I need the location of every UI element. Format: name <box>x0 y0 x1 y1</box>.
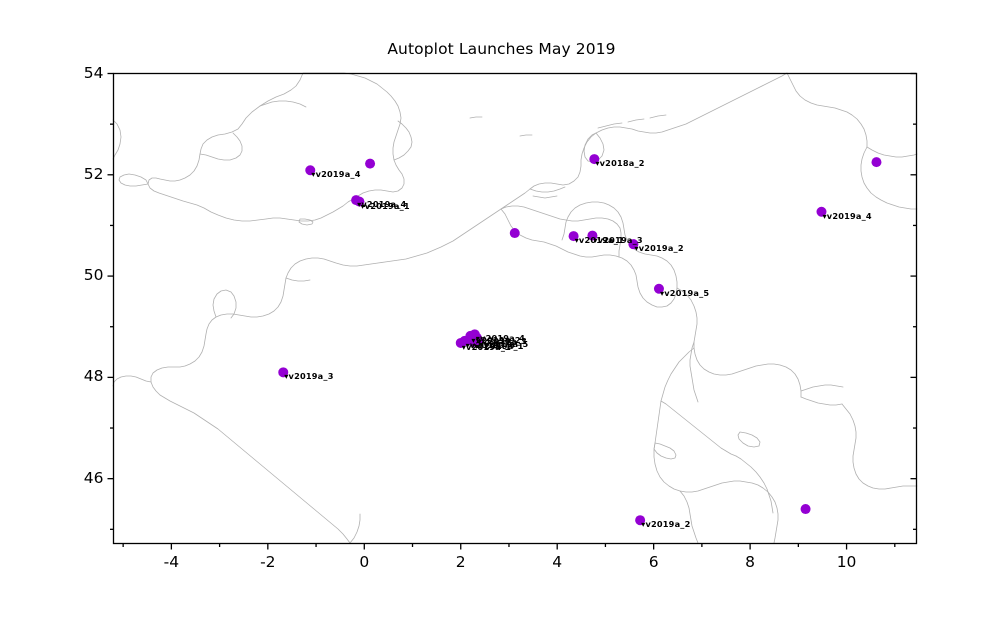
x-tick-label: 4 <box>517 553 597 571</box>
point-label: ▾v2019a_4 <box>822 211 871 221</box>
point-label: ▾v2019a_3 <box>284 371 333 381</box>
plot-area <box>0 0 1003 633</box>
x-tick-label: 6 <box>614 553 694 571</box>
point-label: ▾v2018a_2 <box>595 158 644 168</box>
point-label: ▾v2019a_1 <box>360 201 409 211</box>
x-tick-label: 2 <box>421 553 501 571</box>
map-coastlines <box>113 73 917 543</box>
x-tick-label: -2 <box>228 553 308 571</box>
point-label: ▾v2019a_2 <box>634 243 683 253</box>
x-tick-label: 10 <box>807 553 887 571</box>
y-tick-label: 54 <box>62 64 104 82</box>
scatter-marker <box>365 159 375 169</box>
x-tick-label: -4 <box>131 553 211 571</box>
scatter-marker <box>510 228 520 238</box>
x-tick-label: 0 <box>324 553 404 571</box>
y-tick-label: 46 <box>62 469 104 487</box>
axis-frame <box>114 74 917 544</box>
scatter-marker <box>801 504 811 514</box>
scatter-marker <box>871 157 881 167</box>
point-label: ▾v2019a_4 <box>311 169 360 179</box>
figure-canvas: Autoplot Launches May 2019 <box>0 0 1003 633</box>
x-tick-label: 8 <box>710 553 790 571</box>
point-label: ▾v2019a_1 <box>474 341 523 351</box>
point-label: ▾v2019a_2 <box>641 519 690 529</box>
point-label: ▾v2019a_5 <box>660 288 709 298</box>
y-tick-label: 52 <box>62 165 104 183</box>
axis-ticks <box>108 74 917 550</box>
y-tick-label: 50 <box>62 266 104 284</box>
y-tick-label: 48 <box>62 367 104 385</box>
